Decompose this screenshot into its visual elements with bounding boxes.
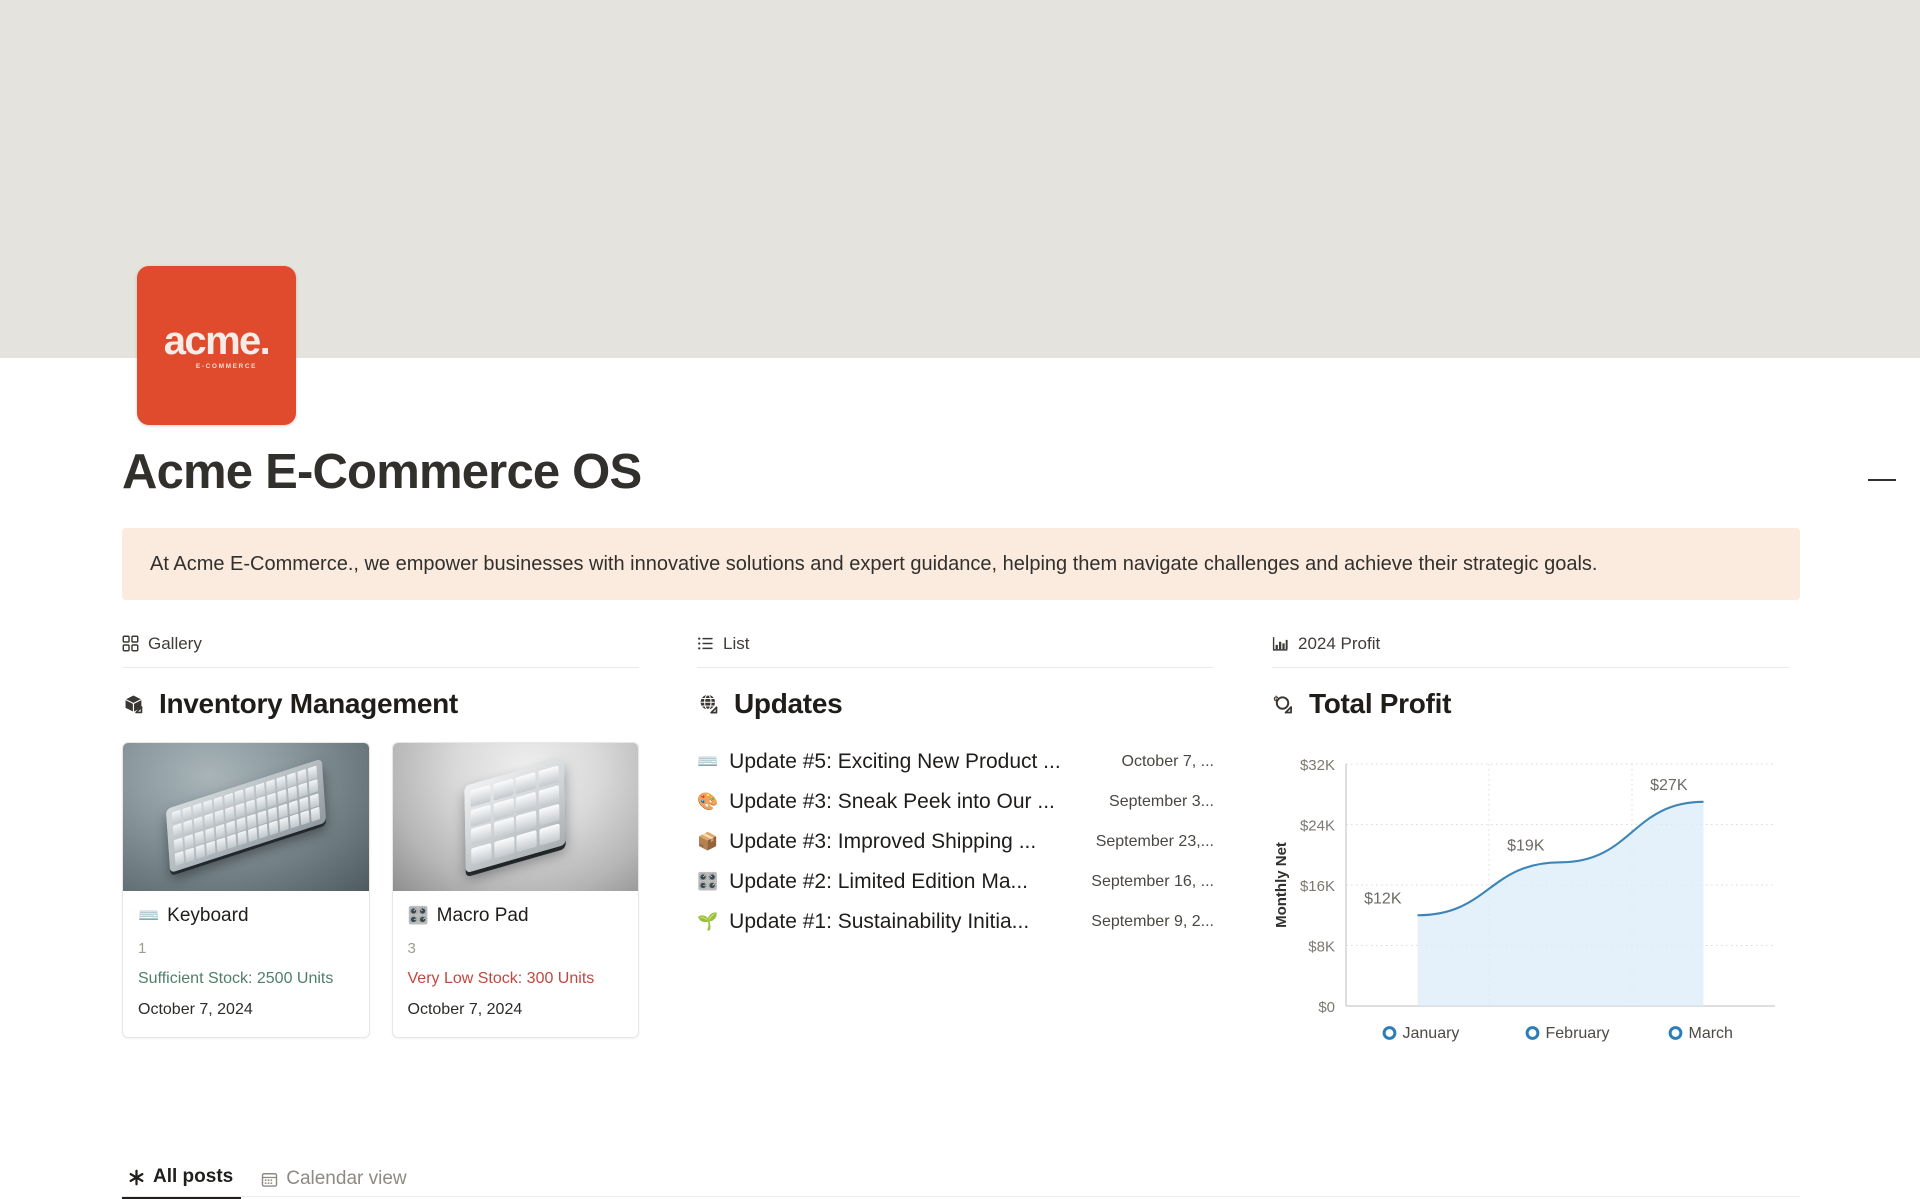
macro-pad-photo xyxy=(393,743,639,891)
asterisk-icon xyxy=(128,1169,145,1186)
database-title-text-inventory: Inventory Management xyxy=(159,688,458,720)
profit-area-chart[interactable]: $0$8K$16K$24K$32K$12K$19K$27KMonthly Net… xyxy=(1272,742,1789,1072)
view-label-list: List xyxy=(723,635,749,652)
chart-area-fill xyxy=(1418,802,1704,1006)
legend-label: January xyxy=(1403,1025,1460,1042)
notion-page: acme. E-COMMERCE Acme E-Commerce OS At A… xyxy=(0,0,1920,1199)
column-list: List Updates ⌨️ xyxy=(697,630,1214,1072)
y-tick-label: $32K xyxy=(1300,757,1335,774)
gallery-card[interactable]: ⌨️ Keyboard 1 Sufficient Stock: 2500 Uni… xyxy=(122,742,370,1038)
macro-pad-emoji: 🎛️ xyxy=(408,908,429,925)
gallery-card-number: 1 xyxy=(138,940,354,957)
gallery-card-date: October 7, 2024 xyxy=(408,1001,624,1019)
column-chart: 2024 Profit ¢ Total Profit $0$8K$16K$24K… xyxy=(1272,630,1789,1072)
view-label-gallery: Gallery xyxy=(148,635,202,652)
view-header-gallery[interactable]: Gallery xyxy=(122,630,639,660)
tab-all-posts[interactable]: All posts xyxy=(122,1166,241,1199)
gallery-card-name-row: ⌨️ Keyboard xyxy=(138,905,354,927)
callout-text: At Acme E-Commerce., we empower business… xyxy=(150,550,1597,579)
page-icon-logo[interactable]: acme. E-COMMERCE xyxy=(137,266,296,425)
logo-wordmark: acme. xyxy=(164,321,269,361)
gallery-card-name-row: 🎛️ Macro Pad xyxy=(408,905,624,927)
calendar-icon xyxy=(261,1171,278,1188)
y-tick-label: $16K xyxy=(1300,878,1335,895)
gallery-card-date: October 7, 2024 xyxy=(138,1001,354,1019)
database-title-total-profit[interactable]: ¢ Total Profit xyxy=(1272,688,1789,720)
chart-point-label: $27K xyxy=(1650,777,1688,794)
palette-emoji: 🎨 xyxy=(697,794,718,811)
database-title-text-updates: Updates xyxy=(734,688,842,720)
y-tick-label: $0 xyxy=(1318,999,1335,1016)
list-item-left: ⌨️ Update #5: Exciting New Product ... xyxy=(697,750,1108,774)
list-item-date: September 23,... xyxy=(1096,833,1214,851)
y-axis-title: Monthly Net xyxy=(1273,842,1290,928)
chart-legend-item[interactable]: March xyxy=(1670,1025,1733,1042)
legend-marker-icon xyxy=(1670,1028,1681,1039)
globe-link-icon xyxy=(697,692,722,717)
column-layout: Gallery Inventory Management xyxy=(122,630,1800,1072)
list-item-left: 🎛️ Update #2: Limited Edition Ma... xyxy=(697,870,1077,894)
list-item-date: September 3... xyxy=(1109,793,1214,811)
list-item-title: Update #5: Exciting New Product ... xyxy=(729,750,1061,774)
package-emoji: 📦 xyxy=(697,834,718,851)
currency-link-icon: ¢ xyxy=(1272,692,1297,717)
list-item-title: Update #2: Limited Edition Ma... xyxy=(729,870,1028,894)
list-item-title: Update #1: Sustainability Initia... xyxy=(729,910,1029,934)
keyboard-photo xyxy=(123,743,369,891)
gallery-card-stock: Sufficient Stock: 2500 Units xyxy=(138,970,354,988)
gallery-cards: ⌨️ Keyboard 1 Sufficient Stock: 2500 Uni… xyxy=(122,742,639,1038)
page-title: Acme E-Commerce OS xyxy=(122,446,641,500)
tab-label-calendar-view: Calendar view xyxy=(286,1168,406,1190)
list-item-left: 📦 Update #3: Improved Shipping ... xyxy=(697,830,1082,854)
chart-svg: $0$8K$16K$24K$32K$12K$19K$27KMonthly Net… xyxy=(1272,742,1789,1072)
package-link-icon xyxy=(122,692,147,717)
view-header-profit[interactable]: 2024 Profit xyxy=(1272,630,1789,660)
gallery-card-stock: Very Low Stock: 300 Units xyxy=(408,970,624,988)
list-item[interactable]: 🌱 Update #1: Sustainability Initia... Se… xyxy=(697,902,1214,942)
view-header-list[interactable]: List xyxy=(697,630,1214,660)
legend-label: February xyxy=(1546,1025,1610,1042)
bottom-view-tabs: All posts Calendar view xyxy=(122,1158,415,1199)
gallery-card-body: ⌨️ Keyboard 1 Sufficient Stock: 2500 Uni… xyxy=(123,891,369,1037)
gallery-card-number: 3 xyxy=(408,940,624,957)
legend-label: March xyxy=(1689,1025,1733,1042)
database-title-inventory[interactable]: Inventory Management xyxy=(122,688,639,720)
list-item[interactable]: 🎨 Update #3: Sneak Peek into Our ... Sep… xyxy=(697,782,1214,822)
legend-marker-icon xyxy=(1384,1028,1395,1039)
divider-list xyxy=(697,667,1214,668)
macro-pad-emoji: 🎛️ xyxy=(697,874,718,891)
keyboard-emoji: ⌨️ xyxy=(697,754,718,771)
gallery-card-body: 🎛️ Macro Pad 3 Very Low Stock: 300 Units… xyxy=(393,891,639,1037)
bar-chart-icon xyxy=(1272,635,1289,652)
divider-gallery xyxy=(122,667,639,668)
list-item-left: 🌱 Update #1: Sustainability Initia... xyxy=(697,910,1077,934)
tabs-divider xyxy=(122,1196,1800,1197)
database-title-text-total-profit: Total Profit xyxy=(1309,688,1451,720)
list-item-title: Update #3: Improved Shipping ... xyxy=(729,830,1036,854)
list-item-left: 🎨 Update #3: Sneak Peek into Our ... xyxy=(697,790,1095,814)
keyboard-emoji: ⌨️ xyxy=(138,908,159,925)
view-label-profit: 2024 Profit xyxy=(1298,635,1380,652)
gallery-card-name: Keyboard xyxy=(167,905,248,927)
gallery-card[interactable]: 🎛️ Macro Pad 3 Very Low Stock: 300 Units… xyxy=(392,742,640,1038)
seedling-emoji: 🌱 xyxy=(697,914,718,931)
list-item[interactable]: ⌨️ Update #5: Exciting New Product ... O… xyxy=(697,742,1214,782)
chart-legend-item[interactable]: February xyxy=(1527,1025,1609,1042)
divider-profit xyxy=(1272,667,1789,668)
grid-icon xyxy=(122,635,139,652)
y-tick-label: $24K xyxy=(1300,818,1335,835)
legend-marker-icon xyxy=(1527,1028,1538,1039)
chart-point-label: $19K xyxy=(1507,837,1545,854)
chart-point-label: $12K xyxy=(1364,890,1402,907)
database-title-updates[interactable]: Updates xyxy=(697,688,1214,720)
bullet-list-icon xyxy=(697,635,714,652)
list-item[interactable]: 🎛️ Update #2: Limited Edition Ma... Sept… xyxy=(697,862,1214,902)
tab-calendar-view[interactable]: Calendar view xyxy=(255,1168,414,1199)
list-item-date: September 9, 2... xyxy=(1091,913,1214,931)
column-gallery: Gallery Inventory Management xyxy=(122,630,639,1072)
list-item-title: Update #3: Sneak Peek into Our ... xyxy=(729,790,1055,814)
list-item[interactable]: 📦 Update #3: Improved Shipping ... Septe… xyxy=(697,822,1214,862)
logo-tagline: E-COMMERCE xyxy=(196,363,257,370)
minimize-bar xyxy=(1868,479,1896,481)
callout-banner: At Acme E-Commerce., we empower business… xyxy=(122,528,1800,600)
chart-legend-item[interactable]: January xyxy=(1384,1025,1459,1042)
updates-list: ⌨️ Update #5: Exciting New Product ... O… xyxy=(697,742,1214,942)
list-item-date: October 7, ... xyxy=(1122,753,1214,771)
list-item-date: September 16, ... xyxy=(1091,873,1214,891)
gallery-card-name: Macro Pad xyxy=(437,905,529,927)
minimize-icon[interactable] xyxy=(1868,473,1896,487)
y-tick-label: $8K xyxy=(1308,939,1335,956)
tab-label-all-posts: All posts xyxy=(153,1166,233,1188)
